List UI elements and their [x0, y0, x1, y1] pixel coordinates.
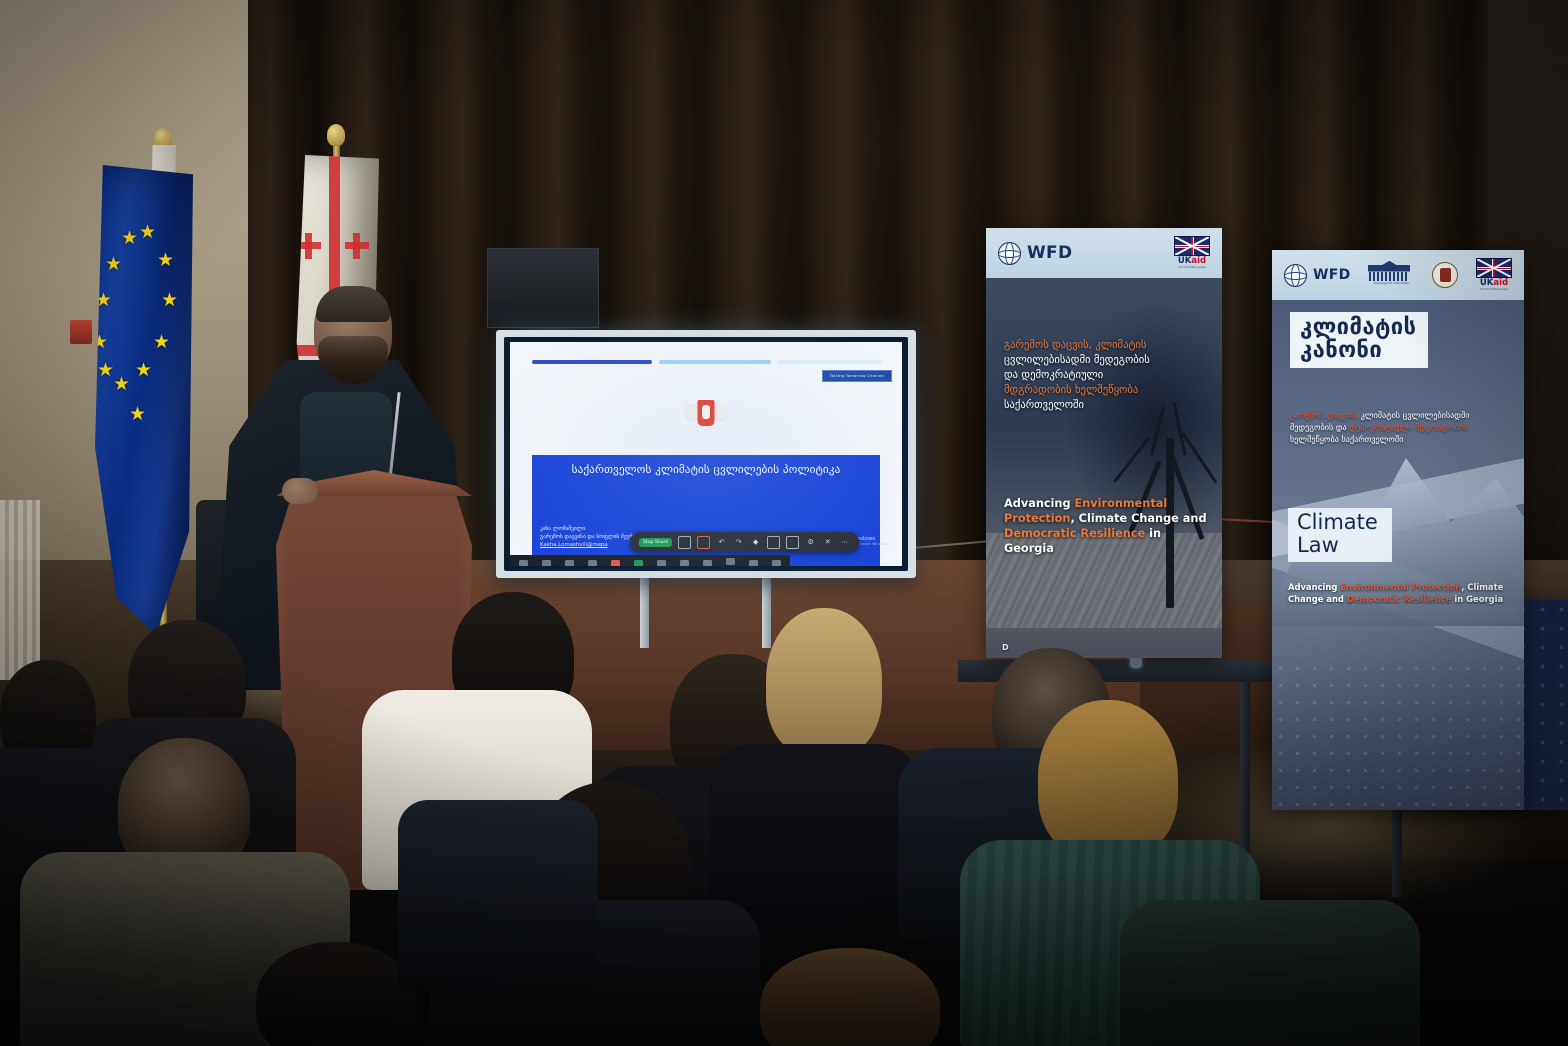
- fire-alarm-icon: [70, 320, 92, 344]
- progress-segment-1: [532, 360, 652, 364]
- zoom-control-mute[interactable]: Mute: [514, 560, 534, 567]
- ukaid-subtitle: from the British people: [1174, 267, 1210, 270]
- audience-head: [1038, 700, 1178, 860]
- wfd-environmental-banner: WFD UKaid from the British people გარემო…: [986, 228, 1222, 658]
- zoom-control-label: Remote Control: [720, 566, 740, 567]
- banner1-footer-fragment: D: [1002, 643, 1009, 652]
- chat-icon: [611, 560, 620, 567]
- zoom-control-pause-share[interactable]: Pause Share: [652, 560, 672, 567]
- pen-icon: [680, 560, 689, 567]
- display-stand-right: [762, 578, 771, 648]
- slide-canvas[interactable]: Talking Tomorrow Channel საქართველოს კლი…: [510, 342, 902, 566]
- banner1-geo-line-4: მდგრადობის ხელშეწყობა: [1004, 384, 1138, 396]
- b1-en-p0: Advancing: [1004, 497, 1075, 510]
- banner1-english-headline: Advancing Environmental Protection, Clim…: [1004, 496, 1210, 556]
- climate-law-banner: WFD საქართველოს პარლამენტი: [1272, 250, 1524, 810]
- close-icon[interactable]: ✕: [822, 537, 833, 548]
- banner2-geo-headline-1: კლიმატის: [1300, 316, 1416, 339]
- georgia-coat-of-arms-icon: [684, 396, 728, 440]
- speaker-hand: [282, 478, 318, 504]
- union-jack-icon: [1174, 236, 1210, 256]
- zoom-control-annotate[interactable]: Annotate: [674, 560, 694, 567]
- parliament-of-georgia-logo: საქართველოს პარლამენტი: [1368, 265, 1414, 286]
- audience-shoulders: [1120, 900, 1420, 1046]
- slide-title-band: საქართველოს კლიმატის ცვლილების პოლიტიკა: [532, 455, 880, 529]
- microphone-icon: [519, 560, 528, 567]
- parliament-caption: საქართველოს პარლამენტი: [1368, 282, 1414, 285]
- banner2-english-headline-box: Climate Law: [1288, 508, 1392, 562]
- loudspeaker-cabinet: [487, 248, 599, 328]
- b1-en-p3: Democratic Resilience: [1004, 527, 1145, 540]
- b2-geo-p0: გარემოს დაცვის,: [1290, 410, 1361, 420]
- b2-en-p4: in Georgia: [1451, 594, 1503, 604]
- audience-shoulders: [398, 800, 598, 990]
- b2-en-p3: Democratic Resilience: [1347, 594, 1452, 604]
- remote-icon: [726, 558, 735, 565]
- b2-en-p0: Advancing: [1288, 582, 1340, 592]
- banner2-en-headline-2: Law: [1297, 534, 1378, 557]
- new-share-icon[interactable]: [767, 536, 780, 549]
- progress-segment-2: [659, 360, 771, 364]
- audience-head: [256, 942, 416, 1046]
- wfd-logo: WFD: [998, 242, 1072, 265]
- zoom-control-ai-companion[interactable]: AI Companion: [697, 560, 717, 567]
- conference-photo-scene: ★ ★ ★ ★ ★ ★ ★ ★ ★ ★ ★ ★: [0, 0, 1568, 1046]
- banner1-geo-line-5: საქართველოში: [1004, 399, 1084, 411]
- stop-share-button[interactable]: Stop Share: [639, 538, 672, 547]
- zoom-control-apps[interactable]: Apps: [743, 560, 763, 567]
- georgia-flagpole-finial-icon: [327, 124, 345, 146]
- audience-head: [760, 948, 940, 1046]
- slide-badge: Talking Tomorrow Channel: [822, 370, 892, 382]
- shield-icon: [565, 560, 574, 567]
- radiator: [0, 500, 40, 680]
- ukaid-wordmark: UKaid: [1174, 257, 1210, 266]
- ukaid-logo: UKaid from the British people: [1174, 236, 1210, 269]
- banner2-georgian-headline-box: კლიმატის კანონი: [1290, 312, 1428, 368]
- zoom-control-participants[interactable]: Participants: [583, 560, 603, 567]
- progress-segment-3: [778, 360, 882, 364]
- pause-icon: [657, 560, 666, 567]
- banner2-dot-pattern: [1272, 660, 1524, 810]
- more-icon[interactable]: ⋯: [839, 537, 850, 548]
- zoom-control-new-share[interactable]: New Share: [629, 560, 649, 567]
- zoom-control-remote-control[interactable]: Remote Control: [720, 558, 740, 567]
- banner1-geo-line-2: ცვლილებისადმი მედეგობის: [1004, 354, 1150, 366]
- zoom-share-toolbar[interactable]: Stop Share ↶ ↷ ◆ ⚙ ✕ ⋯: [630, 532, 859, 552]
- b1-en-p2: , Climate Change and: [1070, 512, 1206, 525]
- banner2-logo-strip: WFD საქართველოს პარლამენტი: [1272, 250, 1524, 300]
- ukaid-wordmark: UKaid: [1476, 279, 1512, 288]
- ellipsis-icon: [772, 560, 781, 567]
- share-icon: [634, 560, 643, 567]
- pause-icon[interactable]: [678, 536, 691, 549]
- government-emblem-icon: [1432, 262, 1458, 288]
- wfd-globe-icon: [998, 242, 1021, 265]
- wfd-wordmark: WFD: [1313, 267, 1351, 283]
- ukaid-logo: UKaid from the British people: [1476, 258, 1512, 291]
- banner1-geo-line-1: გარემოს დაცვის, კლიმატის: [1004, 339, 1146, 351]
- banner1-geo-line-3: და დემოკრატიული: [1004, 369, 1103, 381]
- people-icon: [588, 560, 597, 567]
- zoom-control-stop-video[interactable]: Stop Video: [537, 560, 557, 567]
- display-stand-left: [640, 578, 649, 648]
- zoom-control-more[interactable]: More: [766, 560, 786, 567]
- banner2-geo-headline-2: კანონი: [1300, 339, 1416, 362]
- slide-progress-bar: [532, 360, 882, 364]
- sparkle-icon: [703, 560, 712, 567]
- banner2-english-subtitle: Advancing Environmental Protection, Clim…: [1288, 582, 1508, 606]
- zoom-control-chat[interactable]: Chat: [606, 560, 626, 567]
- audience-head: [766, 608, 882, 758]
- zoom-control-security[interactable]: Security: [560, 560, 580, 567]
- undo-icon[interactable]: ↶: [716, 537, 727, 548]
- spotlight-icon[interactable]: ◆: [750, 537, 761, 548]
- banner1-photo-background: [986, 278, 1222, 658]
- settings-icon[interactable]: ⚙: [805, 537, 816, 548]
- banner1-logo-strip: WFD UKaid from the British people: [986, 228, 1222, 278]
- apps-icon: [749, 560, 758, 567]
- b2-geo-p2: დემოკრატიული მდგრადობის: [1349, 422, 1467, 432]
- zoom-meeting-controls[interactable]: Mute Stop Video Security Participants Ch…: [510, 555, 790, 566]
- camera-icon: [542, 560, 551, 567]
- redo-icon[interactable]: ↷: [733, 537, 744, 548]
- ukaid-subtitle: from the British people: [1476, 289, 1512, 292]
- banner2-en-headline-1: Climate: [1297, 511, 1378, 534]
- annotate-icon[interactable]: [697, 536, 710, 549]
- parliament-building-icon: [1368, 265, 1410, 281]
- wfd-wordmark: WFD: [1027, 243, 1072, 263]
- banner2-georgian-subtitle: გარემოს დაცვის, კლიმატის ცვლილებისადმი მ…: [1290, 410, 1510, 446]
- audience-shoulders: [710, 744, 920, 934]
- union-jack-icon: [1476, 258, 1512, 278]
- wfd-globe-icon: [1284, 264, 1307, 287]
- b2-en-p1: Environmental Protection: [1340, 582, 1461, 592]
- save-icon[interactable]: [786, 536, 799, 549]
- wfd-logo: WFD: [1284, 264, 1351, 287]
- slide-title: საქართველოს კლიმატის ცვლილების პოლიტიკა: [572, 463, 841, 476]
- b2-geo-p3: ხელშეწყობა საქართველოში: [1290, 434, 1403, 444]
- banner1-georgian-headline: გარემოს დაცვის, კლიმატის ცვლილებისადმი მ…: [1004, 338, 1212, 413]
